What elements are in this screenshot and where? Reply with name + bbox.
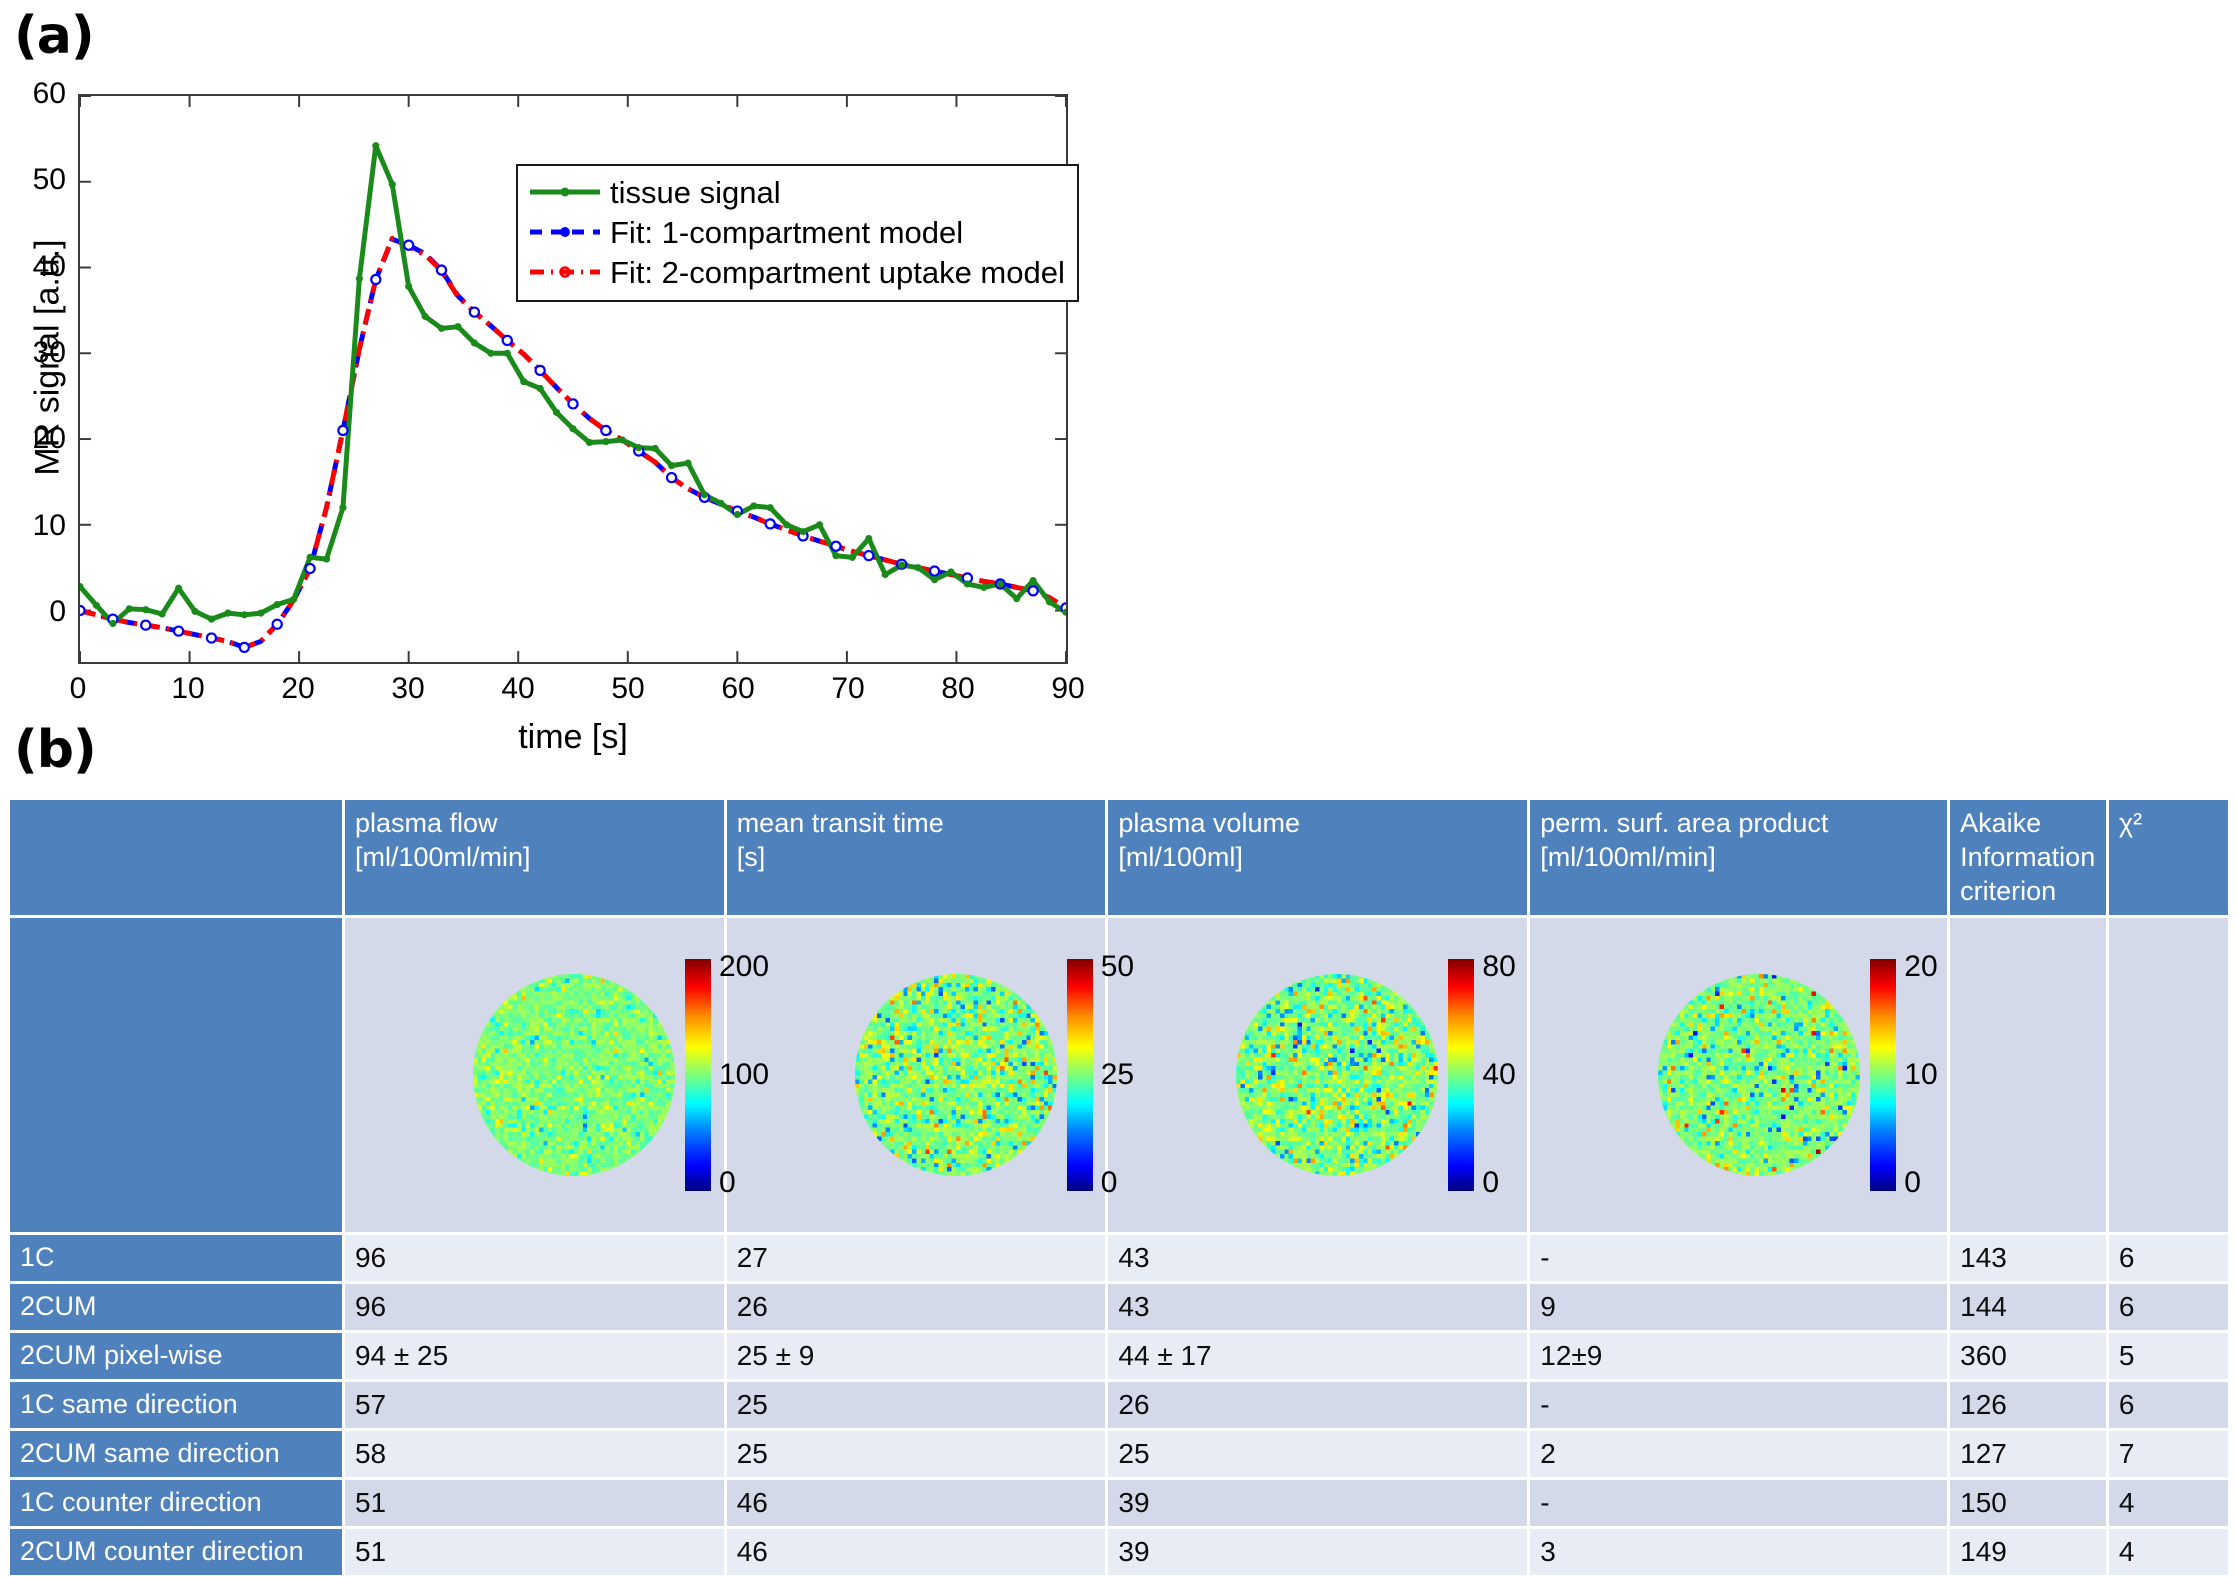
- cell-ps-product: -: [1529, 1234, 1949, 1283]
- header-mtt-line1: mean transit time: [737, 807, 1096, 841]
- cell-ps-product: 9: [1529, 1283, 1949, 1332]
- table-row: 2CUM pixel-wise94 ± 2525 ± 944 ± 1712±93…: [10, 1332, 2228, 1381]
- cell-aic: 127: [1949, 1430, 2108, 1479]
- cell-ps-product: -: [1529, 1479, 1949, 1528]
- plasma-volume-map-colorbar-min: 0: [1482, 1166, 1499, 1200]
- cell-plasma-volume: 43: [1107, 1234, 1529, 1283]
- cell-plasma-volume: 26: [1107, 1381, 1529, 1430]
- ps-product-map-colorbar-mid: 10: [1904, 1058, 1937, 1092]
- parameter-maps-row: 2001000 50250 80400 20100: [10, 917, 2228, 1234]
- legend-label-fit-2cum: Fit: 2-compartment uptake model: [610, 257, 1065, 288]
- chart-legend: tissue signal Fit: 1-compartment model F…: [516, 164, 1079, 302]
- cell-plasma-volume: 25: [1107, 1430, 1529, 1479]
- table-header-row: plasma flow [ml/100ml/min] mean transit …: [10, 800, 2228, 917]
- cell-aic: 143: [1949, 1234, 2108, 1283]
- legend-swatch-fit-2cum: [528, 261, 602, 283]
- cell-aic: 360: [1949, 1332, 2108, 1381]
- cell-ps-product: 3: [1529, 1528, 1949, 1577]
- legend-swatch-fit-1c: [528, 221, 602, 243]
- cell-chi2: 7: [2107, 1430, 2228, 1479]
- plasma-flow-map-colorbar-gradient: [685, 959, 711, 1191]
- mtt-map-colorbar-gradient: [1067, 959, 1093, 1191]
- cell-aic: 126: [1949, 1381, 2108, 1430]
- row-label-2cum-pixel-wise: 2CUM pixel-wise: [10, 1332, 343, 1381]
- cell-chi2: 4: [2107, 1479, 2228, 1528]
- ps-product-map-colorbar-min: 0: [1904, 1166, 1921, 1200]
- plasma-flow-map-colorbar-min: 0: [719, 1166, 736, 1200]
- cell-mean-transit-time: 26: [725, 1283, 1107, 1332]
- cell-plasma-flow: 96: [343, 1283, 725, 1332]
- cell-ps-product: -: [1529, 1381, 1949, 1430]
- cell-chi2-map-empty: [2107, 917, 2228, 1234]
- mtt-map-colorbar-min: 0: [1101, 1166, 1118, 1200]
- cell-plasma-volume: 39: [1107, 1528, 1529, 1577]
- x-tick-80: 80: [941, 672, 974, 706]
- cell-mean-transit-time: 46: [725, 1528, 1107, 1577]
- row-label-2cum: 2CUM: [10, 1283, 343, 1332]
- plasma-volume-map-colorbar-max: 80: [1482, 950, 1515, 984]
- legend-item-fit-1c: Fit: 1-compartment model: [528, 212, 1065, 252]
- table-row: 1C same direction572526-1266: [10, 1381, 2228, 1430]
- header-plasma-flow-line2: [ml/100ml/min]: [355, 841, 714, 875]
- legend-label-fit-1c: Fit: 1-compartment model: [610, 217, 963, 248]
- legend-swatch-tissue-signal: [528, 181, 602, 203]
- ps-product-map-colorbar: 20100: [1870, 959, 2000, 1191]
- header-plasma-flow: plasma flow [ml/100ml/min]: [343, 800, 725, 917]
- row-label-1c: 1C: [10, 1234, 343, 1283]
- x-tick-70: 70: [831, 672, 864, 706]
- cell-plasma-flow: 58: [343, 1430, 725, 1479]
- table-row: 2CUM counter direction51463931494: [10, 1528, 2228, 1577]
- x-tick-90: 90: [1051, 672, 1084, 706]
- row-label-2cum-same-direction: 2CUM same direction: [10, 1430, 343, 1479]
- cell-mtt-map: 50250: [725, 917, 1107, 1234]
- x-tick-10: 10: [171, 672, 204, 706]
- header-aic-line3: criterion: [1960, 875, 2096, 909]
- header-aic: Akaike Information criterion: [1949, 800, 2108, 917]
- y-axis-label: MR signal [a.u.]: [29, 98, 68, 618]
- header-ps-product: perm. surf. area product [ml/100ml/min]: [1529, 800, 1949, 917]
- maps-row-label: [10, 917, 343, 1234]
- cell-aic: 150: [1949, 1479, 2108, 1528]
- legend-label-tissue-signal: tissue signal: [610, 177, 781, 208]
- mtt-map: [855, 974, 1057, 1176]
- cell-plasma-volume: 43: [1107, 1283, 1529, 1332]
- x-tick-50: 50: [611, 672, 644, 706]
- cell-chi2: 5: [2107, 1332, 2228, 1381]
- header-rowlabel: [10, 800, 343, 917]
- header-plasma-volume: plasma volume [ml/100ml]: [1107, 800, 1529, 917]
- cell-mean-transit-time: 25: [725, 1381, 1107, 1430]
- cell-aic: 149: [1949, 1528, 2108, 1577]
- panel-a-label: (a): [14, 6, 94, 66]
- legend-item-tissue-signal: tissue signal: [528, 172, 1065, 212]
- cell-chi2: 6: [2107, 1283, 2228, 1332]
- ps-product-map-colorbar-gradient: [1870, 959, 1896, 1191]
- row-label-2cum-counter-direction: 2CUM counter direction: [10, 1528, 343, 1577]
- cell-plasma-volume: 39: [1107, 1479, 1529, 1528]
- cell-aic: 144: [1949, 1283, 2108, 1332]
- cell-plasma-flow: 57: [343, 1381, 725, 1430]
- row-label-1c-counter-direction: 1C counter direction: [10, 1479, 343, 1528]
- header-plasma-flow-line1: plasma flow: [355, 807, 714, 841]
- cell-plasma-flow-map: 2001000: [343, 917, 725, 1234]
- cell-mean-transit-time: 46: [725, 1479, 1107, 1528]
- header-mtt-line2: [s]: [737, 841, 1096, 875]
- header-mean-transit-time: mean transit time [s]: [725, 800, 1107, 917]
- ps-product-map-colorbar-max: 20: [1904, 950, 1937, 984]
- header-ps-line2: [ml/100ml/min]: [1540, 841, 1937, 875]
- x-tick-40: 40: [501, 672, 534, 706]
- cell-mean-transit-time: 25 ± 9: [725, 1332, 1107, 1381]
- ps-product-map: [1658, 974, 1860, 1176]
- legend-item-fit-2cum: Fit: 2-compartment uptake model: [528, 252, 1065, 292]
- results-table: plasma flow [ml/100ml/min] mean transit …: [10, 800, 2228, 1578]
- cell-mean-transit-time: 25: [725, 1430, 1107, 1479]
- x-tick-60: 60: [721, 672, 754, 706]
- cell-ps-product: 2: [1529, 1430, 1949, 1479]
- table-row: 2CUM96264391446: [10, 1283, 2228, 1332]
- plasma-volume-map: [1236, 974, 1438, 1176]
- x-tick-0: 0: [70, 672, 87, 706]
- plasma-volume-map-colorbar-gradient: [1448, 959, 1474, 1191]
- x-tick-20: 20: [281, 672, 314, 706]
- cell-plasma-volume-map: 80400: [1107, 917, 1529, 1234]
- cell-plasma-volume: 44 ± 17: [1107, 1332, 1529, 1381]
- cell-plasma-flow: 51: [343, 1479, 725, 1528]
- cell-plasma-flow: 96: [343, 1234, 725, 1283]
- plasma-volume-map-colorbar-mid: 40: [1482, 1058, 1515, 1092]
- header-aic-line2: Information: [1960, 841, 2096, 875]
- panel-b-label: (b): [14, 720, 96, 780]
- cell-ps-product: 12±9: [1529, 1332, 1949, 1381]
- cell-chi2: 4: [2107, 1528, 2228, 1577]
- plasma-flow-map: [473, 974, 675, 1176]
- header-chi-squared: χ²: [2107, 800, 2228, 917]
- table-row: 1C962743-1436: [10, 1234, 2228, 1283]
- header-plasma-volume-line2: [ml/100ml]: [1118, 841, 1517, 875]
- x-tick-30: 30: [391, 672, 424, 706]
- table-row: 1C counter direction514639-1504: [10, 1479, 2228, 1528]
- cell-ps-map: 20100: [1529, 917, 1949, 1234]
- cell-mean-transit-time: 27: [725, 1234, 1107, 1283]
- cell-chi2: 6: [2107, 1234, 2228, 1283]
- header-ps-line1: perm. surf. area product: [1540, 807, 1937, 841]
- cell-plasma-flow: 94 ± 25: [343, 1332, 725, 1381]
- table-row: 2CUM same direction58252521277: [10, 1430, 2228, 1479]
- cell-chi2: 6: [2107, 1381, 2228, 1430]
- cell-plasma-flow: 51: [343, 1528, 725, 1577]
- table-body: 2001000 50250 80400 20100 1C962743-14362…: [10, 917, 2228, 1577]
- header-plasma-volume-line1: plasma volume: [1118, 807, 1517, 841]
- x-axis-label: time [s]: [78, 718, 1068, 757]
- row-label-1c-same-direction: 1C same direction: [10, 1381, 343, 1430]
- header-aic-line1: Akaike: [1960, 807, 2096, 841]
- mr-signal-chart: 6050403020100 0102030405060708090 time […: [0, 70, 1120, 710]
